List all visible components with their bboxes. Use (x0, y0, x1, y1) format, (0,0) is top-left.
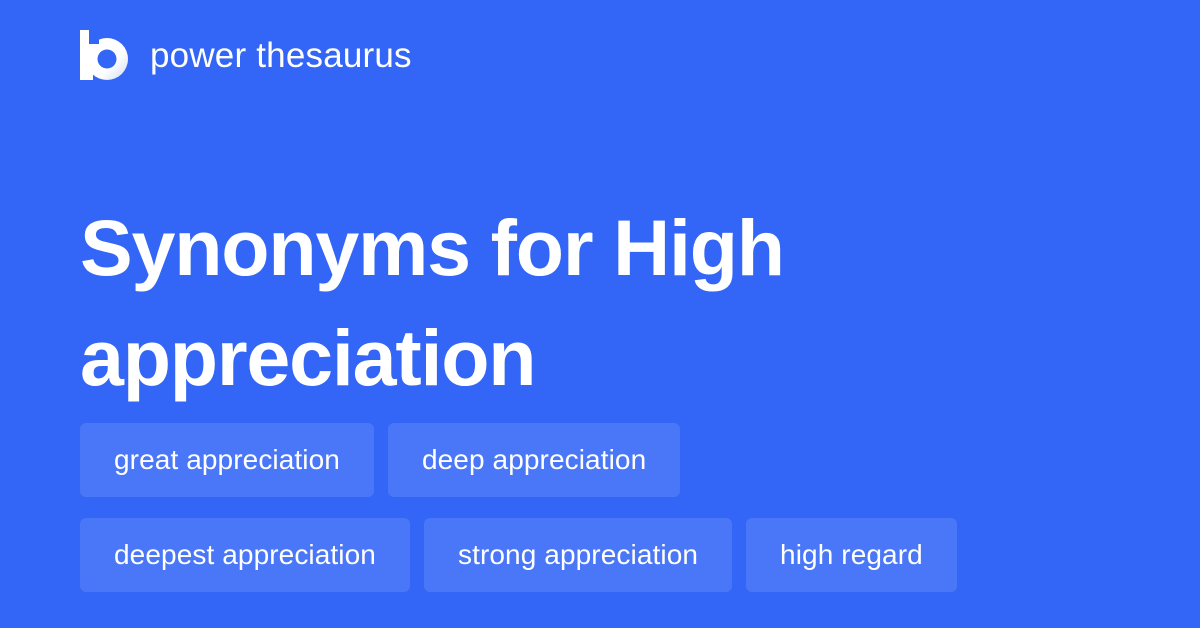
page-title: Synonyms for High appreciation (80, 193, 1080, 413)
brand-name-text: power thesaurus (150, 38, 412, 73)
brand-logo[interactable]: power thesaurus (80, 27, 412, 83)
synonym-chip[interactable]: deepest appreciation (80, 518, 410, 592)
synonym-chip[interactable]: high regard (746, 518, 957, 592)
page-title-line-2: appreciation (80, 303, 1080, 413)
page-canvas: power thesaurus Synonyms for High apprec… (0, 0, 1200, 628)
synonym-chip-row: great appreciation deep appreciation (80, 423, 1140, 497)
synonym-chip[interactable]: deep appreciation (388, 423, 680, 497)
synonym-chip[interactable]: great appreciation (80, 423, 374, 497)
page-title-line-1: Synonyms for High (80, 193, 1080, 303)
power-thesaurus-b-logo-icon (80, 30, 128, 80)
synonym-chip-list: great appreciation deep appreciation dee… (80, 423, 1140, 592)
synonym-chip[interactable]: strong appreciation (424, 518, 732, 592)
synonym-chip-row: deepest appreciation strong appreciation… (80, 518, 1140, 592)
